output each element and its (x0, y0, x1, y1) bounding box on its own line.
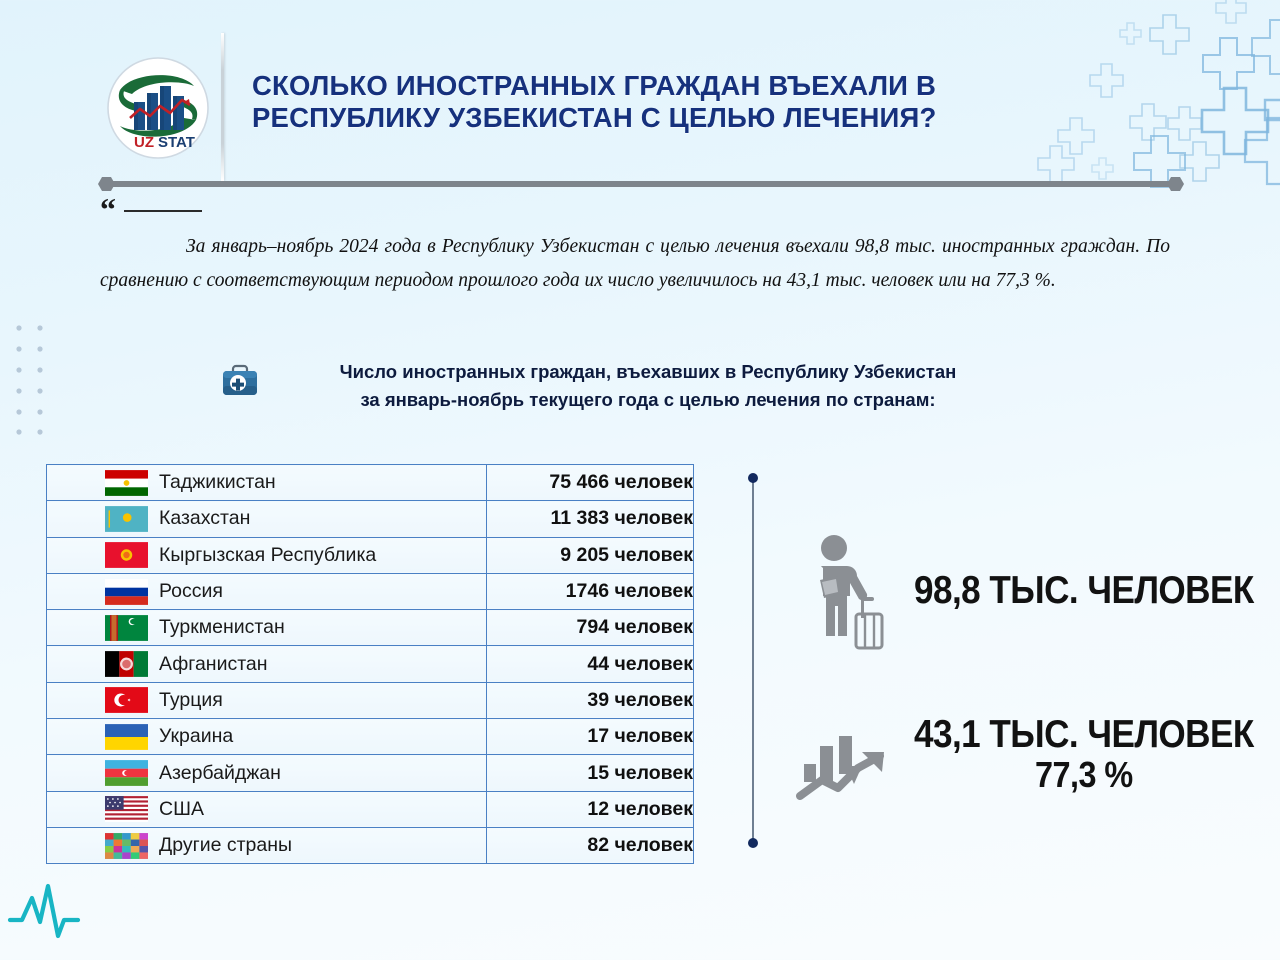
stats-connector-dot-bottom (748, 838, 758, 848)
country-name: Турция (159, 689, 223, 712)
uzstat-logo: UZ STAT (106, 56, 210, 160)
usa-flag (105, 796, 148, 822)
country-name: Другие страны (159, 834, 292, 857)
table-row: Туркменистан 794 человек (47, 610, 694, 646)
country-cell: Туркменистан (47, 610, 487, 646)
stat-growth: 43,1 ТЫС. ЧЕЛОВЕК 77,3 % (794, 708, 1280, 800)
dot-grid-pattern (8, 322, 62, 437)
header-divider (221, 33, 224, 181)
turkey-flag (105, 687, 148, 713)
tajikistan-flag (105, 470, 148, 496)
table-row: Афганистан 44 человек (47, 646, 694, 682)
stat-growth-sub: 77,3 % (914, 756, 1254, 795)
country-cell: Украина (47, 719, 487, 755)
country-cell: Россия (47, 573, 487, 609)
country-value: 39 человек (486, 682, 693, 718)
table-caption: Число иностранных граждан, въехавших в Р… (218, 358, 1028, 414)
country-value: 82 человек (486, 827, 693, 863)
country-name: Казахстан (159, 507, 250, 530)
traveler-with-suitcase-icon (804, 532, 896, 650)
table-row: Турция 39 человек (47, 682, 694, 718)
country-value: 11 383 человек (486, 501, 693, 537)
country-name: Туркменистан (159, 616, 285, 639)
medical-bag-icon (218, 360, 262, 404)
country-value: 12 человек (486, 791, 693, 827)
stats-connector-dot-top (748, 473, 758, 483)
summary-stats-panel: 98,8 ТЫС. ЧЕЛОВЕК 43,1 ТЫС. ЧЕЛОВЕК 77,3… (744, 470, 1244, 858)
page-header: UZ STAT СКОЛЬКО ИНОСТРАННЫХ ГРАЖДАН ВЪЕХ… (0, 0, 1280, 200)
country-cell: Турция (47, 682, 487, 718)
table-row: Другие страны 82 человек (47, 827, 694, 863)
quote-rule (124, 210, 202, 212)
stat-total-label: 98,8 ТЫС. ЧЕЛОВЕК (914, 570, 1254, 612)
quote-text: За январь–ноябрь 2024 года в Республику … (100, 230, 1170, 297)
page-title-line2: РЕСПУБЛИКУ УЗБЕКИСТАН С ЦЕЛЬЮ ЛЕЧЕНИЯ? (252, 102, 1042, 134)
logo-stat-text: STAT (158, 134, 195, 151)
table-row: США 12 человек (47, 791, 694, 827)
country-value: 9 205 человек (486, 537, 693, 573)
table-caption-text: Число иностранных граждан, въехавших в Р… (270, 358, 1026, 414)
azerbaijan-flag (105, 760, 148, 786)
stat-growth-main: 43,1 ТЫС. ЧЕЛОВЕК (914, 713, 1254, 756)
quote-decoration: “ (100, 196, 1180, 222)
growth-arrow-chart-icon (794, 708, 896, 800)
quote-mark-icon: “ (100, 199, 116, 219)
country-name: Кыргызская Республика (159, 544, 376, 567)
page-title: СКОЛЬКО ИНОСТРАННЫХ ГРАЖДАН ВЪЕХАЛИ В РЕ… (252, 70, 1042, 135)
table-row: Россия 1746 человек (47, 573, 694, 609)
country-cell: Кыргызская Республика (47, 537, 487, 573)
kazakhstan-flag (105, 506, 148, 532)
turkmenistan-flag (105, 615, 148, 641)
logo-uz-text: UZ (134, 134, 154, 151)
caption-line1: Число иностранных граждан, въехавших в Р… (340, 361, 957, 382)
country-value: 44 человек (486, 646, 693, 682)
country-name: Украина (159, 725, 233, 748)
country-name: Азербайджан (159, 762, 281, 785)
country-name: США (159, 798, 204, 821)
country-cell: Афганистан (47, 646, 487, 682)
table-row: Казахстан 11 383 человек (47, 501, 694, 537)
caption-line2: за январь-ноябрь текущего года с целью л… (360, 389, 935, 410)
countries-table: Таджикистан 75 466 человек Казахстан 11 … (46, 464, 694, 864)
country-cell: Казахстан (47, 501, 487, 537)
quote-block: “ За январь–ноябрь 2024 года в Республик… (100, 196, 1180, 297)
stat-total: 98,8 ТЫС. ЧЕЛОВЕК (804, 532, 1280, 650)
russia-flag (105, 579, 148, 605)
country-value: 15 человек (486, 755, 693, 791)
afghanistan-flag (105, 651, 148, 677)
header-rail-bar (98, 176, 1184, 192)
page-title-line1: СКОЛЬКО ИНОСТРАННЫХ ГРАЖДАН ВЪЕХАЛИ В (252, 70, 936, 101)
country-cell: Таджикистан (47, 465, 487, 501)
country-name: Афганистан (159, 653, 268, 676)
country-name: Россия (159, 580, 223, 603)
stats-connector-line (752, 478, 754, 843)
stat-growth-label: 43,1 ТЫС. ЧЕЛОВЕК 77,3 % (914, 714, 1254, 794)
country-value: 75 466 человек (486, 465, 693, 501)
country-cell: Другие страны (47, 827, 487, 863)
heartbeat-line-icon (6, 882, 106, 942)
kyrgyzstan-flag (105, 542, 148, 568)
country-cell: Азербайджан (47, 755, 487, 791)
country-value: 17 человек (486, 719, 693, 755)
table-row: Кыргызская Республика 9 205 человек (47, 537, 694, 573)
country-value: 1746 человек (486, 573, 693, 609)
country-value: 794 человек (486, 610, 693, 646)
country-name: Таджикистан (159, 471, 276, 494)
other-countries-flag (105, 833, 148, 859)
table-row: Азербайджан 15 человек (47, 755, 694, 791)
country-cell: США (47, 791, 487, 827)
table-row: Украина 17 человек (47, 719, 694, 755)
table-row: Таджикистан 75 466 человек (47, 465, 694, 501)
ukraine-flag (105, 724, 148, 750)
